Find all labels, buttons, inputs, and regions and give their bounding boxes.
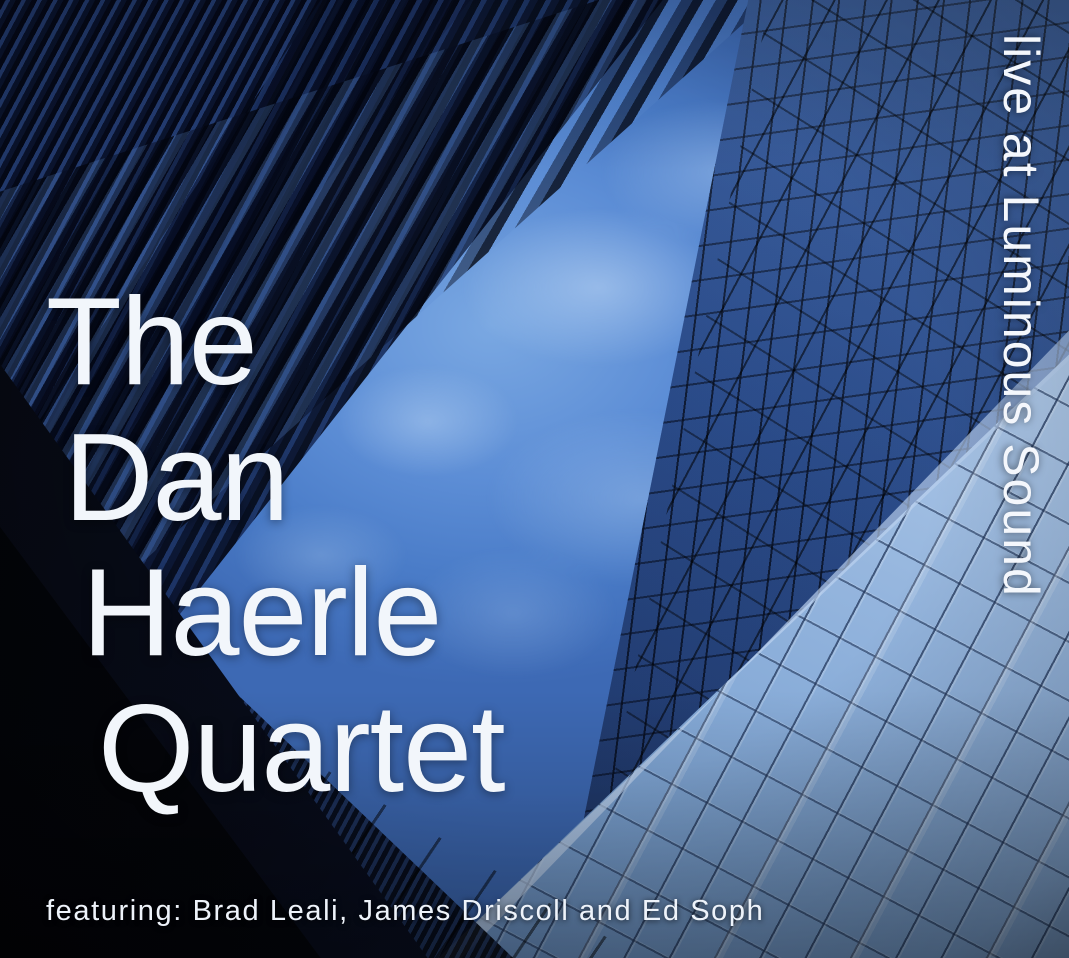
title-line-quartet: Quartet — [98, 689, 505, 811]
title-line-dan: Dan — [64, 418, 505, 540]
title-line-the: The — [46, 282, 505, 404]
album-title-block: The Dan Haerle Quartet — [46, 282, 505, 824]
subtitle-text: live at Luminous Sound — [992, 34, 1050, 598]
featuring-credit: featuring: Brad Leali, James Driscoll an… — [46, 895, 764, 928]
album-subtitle: live at Luminous Sound — [989, 34, 1053, 924]
album-cover: The Dan Haerle Quartet featuring: Brad L… — [0, 0, 1069, 958]
title-line-haerle: Haerle — [82, 553, 505, 675]
